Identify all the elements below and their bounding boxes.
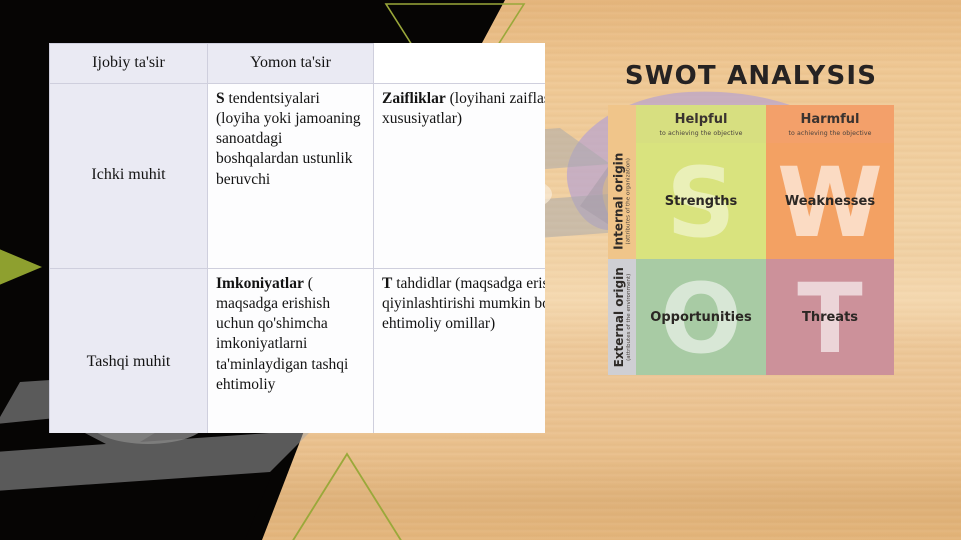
cell-opportunities-text: ( maqsadga erishish uchun qo'shimcha imk… xyxy=(216,275,348,393)
table-header-row: Ijobiy ta'sir Yomon ta'sir xyxy=(50,44,546,84)
strengths-label: Strengths xyxy=(665,194,738,209)
table-row: Tashqi muhit Imkoniyatlar ( maqsadga eri… xyxy=(50,269,546,434)
swot-matrix-corner xyxy=(608,105,636,143)
row-label-internal: Ichki muhit xyxy=(50,84,208,269)
swot-image-title: SWOT ANALYSIS xyxy=(605,55,897,97)
swot-analysis-image: SWOT ANALYSIS Helpful to achieving the o… xyxy=(605,55,897,393)
comparison-table-container: Ijobiy ta'sir Yomon ta'sir Ichki muhit S… xyxy=(49,43,545,433)
cell-threats-text: tahdidlar (maqsadga erishishni qiyinlash… xyxy=(382,275,545,332)
cell-weaknesses-lead: Zaifliklar xyxy=(382,90,446,107)
harmful-label: Harmful xyxy=(801,113,860,127)
threats-label: Threats xyxy=(802,310,858,325)
opportunities-label: Opportunities xyxy=(650,310,751,325)
cell-weaknesses: Zaifliklar (loyihani zaiflashtiradigan x… xyxy=(374,84,546,269)
harmful-sublabel: to achieving the objective xyxy=(789,130,872,137)
swot-quadrant-opportunities: O Opportunities xyxy=(636,259,766,375)
swot-row-header-external: External origin (attributes of the envir… xyxy=(608,259,636,375)
swot-quadrant-threats: T Threats xyxy=(766,259,894,375)
internal-origin-sublabel: (attributes of the organization) xyxy=(625,152,631,249)
external-origin-label: External origin xyxy=(613,267,626,367)
table-header-positive: Ijobiy ta'sir xyxy=(50,44,208,84)
row-label-external: Tashqi muhit xyxy=(50,269,208,434)
helpful-sublabel: to achieving the objective xyxy=(660,130,743,137)
cell-opportunities: Imkoniyatlar ( maqsadga erishish uchun q… xyxy=(208,269,374,434)
helpful-label: Helpful xyxy=(675,113,728,127)
table-header-empty xyxy=(374,44,544,84)
swot-column-header-helpful: Helpful to achieving the objective xyxy=(636,105,766,143)
swot-matrix: Helpful to achieving the objective Harmf… xyxy=(608,105,894,393)
table-header-overflow xyxy=(544,44,546,84)
cell-strengths-lead: S xyxy=(216,90,225,107)
table-row: Ichki muhit S tendentsiyalari (loyiha yo… xyxy=(50,84,546,269)
external-origin-sublabel: (attributes of the environment) xyxy=(625,267,631,367)
weaknesses-label: Weaknesses xyxy=(785,194,875,209)
olive-triangle-bottom-icon xyxy=(288,450,406,540)
swot-comparison-table: Ijobiy ta'sir Yomon ta'sir Ichki muhit S… xyxy=(49,43,545,433)
olive-triangle-left-play-icon xyxy=(0,244,46,290)
cell-opportunities-lead: Imkoniyatlar xyxy=(216,275,304,292)
table-header-negative: Yomon ta'sir xyxy=(208,44,374,84)
cell-strengths: S tendentsiyalari (loyiha yoki jamoaning… xyxy=(208,84,374,269)
cell-threats-lead: T xyxy=(382,275,392,292)
slide-canvas: Ijobiy ta'sir Yomon ta'sir Ichki muhit S… xyxy=(0,0,961,540)
cell-threats: T tahdidlar (maqsadga erishishni qiyinla… xyxy=(374,269,546,434)
swot-column-header-harmful: Harmful to achieving the objective xyxy=(766,105,894,143)
internal-origin-label: Internal origin xyxy=(613,152,626,249)
swot-quadrant-strengths: S Strengths xyxy=(636,143,766,259)
cell-strengths-text: tendentsiyalari (loyiha yoki jamoaning s… xyxy=(216,90,361,188)
swot-quadrant-weaknesses: W Weaknesses xyxy=(766,143,894,259)
swot-row-header-internal: Internal origin (attributes of the organ… xyxy=(608,143,636,259)
